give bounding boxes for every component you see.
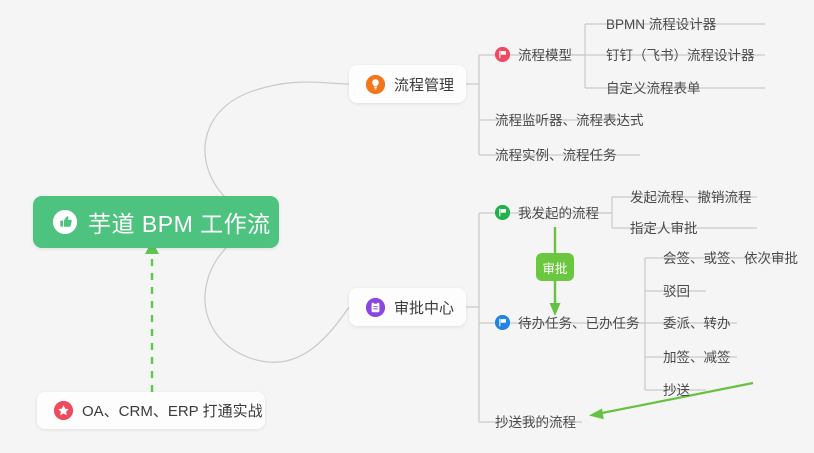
- topic-label: 待办任务、已办任务: [518, 312, 640, 332]
- topic-label: 会签、或签、依次审批: [663, 251, 798, 266]
- branch-node-process-management[interactable]: 流程管理: [349, 65, 466, 103]
- topic-label: 流程监听器、流程表达式: [495, 113, 644, 128]
- flag-icon: [495, 205, 510, 220]
- topic-process-model[interactable]: 流程模型: [489, 44, 578, 67]
- topic-add-remove-sign[interactable]: 加签、减签: [657, 346, 737, 370]
- flag-icon: [495, 315, 510, 330]
- branch-label: 审批中心: [394, 297, 454, 318]
- topic-custom-form[interactable]: 自定义流程表单: [600, 77, 707, 101]
- integration-node[interactable]: OA、CRM、ERP 打通实战: [37, 392, 265, 429]
- topic-label: 驳回: [663, 284, 690, 299]
- topic-label: 委派、转办: [663, 316, 731, 331]
- topic-label: 抄送: [663, 383, 690, 398]
- topic-process-instance[interactable]: 流程实例、流程任务: [489, 144, 623, 168]
- topic-delegate-transfer[interactable]: 委派、转办: [657, 312, 737, 336]
- topic-label: 我发起的流程: [518, 202, 599, 222]
- topic-countersign[interactable]: 会签、或签、依次审批: [657, 247, 804, 271]
- integration-label: OA、CRM、ERP 打通实战: [82, 400, 263, 421]
- topic-dingtalk-designer[interactable]: 钉钉（飞书）流程设计器: [600, 44, 761, 68]
- branch-label: 流程管理: [394, 74, 454, 95]
- topic-cc-to-me[interactable]: 抄送我的流程: [489, 411, 582, 435]
- approve-callout-label: 审批: [542, 258, 567, 277]
- topic-start-cancel-process[interactable]: 发起流程、撤销流程: [624, 186, 758, 210]
- topic-label: 流程模型: [518, 44, 572, 64]
- flag-icon: [495, 47, 510, 62]
- star-icon: [54, 401, 73, 420]
- root-label: 芋道 BPM 工作流: [88, 205, 271, 239]
- topic-todo-done-tasks[interactable]: 待办任务、已办任务: [489, 312, 646, 335]
- topic-cc[interactable]: 抄送: [657, 379, 696, 403]
- topic-bpmn-designer[interactable]: BPMN 流程设计器: [600, 13, 722, 37]
- mindmap-canvas: 芋道 BPM 工作流 流程管理 流程模型 BPMN 流程设计器 钉钉（飞书）流程: [0, 0, 814, 453]
- topic-assignee-approval[interactable]: 指定人审批: [624, 217, 704, 241]
- topic-label: 发起流程、撤销流程: [630, 190, 752, 205]
- topic-label: 抄送我的流程: [495, 415, 576, 430]
- topic-reject[interactable]: 驳回: [657, 280, 696, 304]
- root-node[interactable]: 芋道 BPM 工作流: [33, 196, 279, 248]
- branch-node-approval-center[interactable]: 审批中心: [349, 288, 466, 326]
- topic-label: 指定人审批: [630, 221, 698, 236]
- topic-label: BPMN 流程设计器: [606, 17, 716, 32]
- integration-annotation-arrow: [145, 241, 159, 392]
- topic-label: 加签、减签: [663, 350, 731, 365]
- approve-callout[interactable]: 审批: [536, 253, 574, 281]
- clipboard-icon: [366, 298, 385, 317]
- topic-my-started-process[interactable]: 我发起的流程: [489, 202, 605, 225]
- lightbulb-icon: [366, 75, 385, 94]
- topic-process-listener[interactable]: 流程监听器、流程表达式: [489, 109, 650, 133]
- topic-label: 钉钉（飞书）流程设计器: [606, 48, 755, 63]
- thumbs-up-icon: [53, 210, 77, 234]
- topic-label: 自定义流程表单: [606, 81, 701, 96]
- topic-label: 流程实例、流程任务: [495, 148, 617, 163]
